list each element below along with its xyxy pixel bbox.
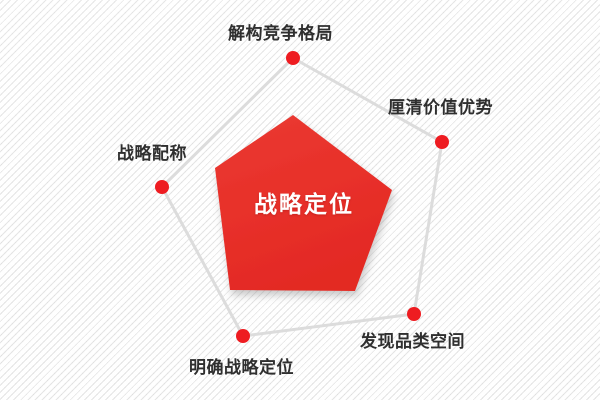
center-label: 战略定位 (254, 194, 354, 217)
vertex-dot-bottom-left[interactable] (236, 329, 250, 343)
axis-label-left: 战略配称 (117, 146, 187, 163)
vertex-dot-right[interactable] (435, 135, 449, 149)
vertex-dot-left[interactable] (155, 180, 169, 194)
axis-label-top: 解构竞争格局 (228, 26, 333, 43)
axis-label-bottom-left: 明确战略定位 (189, 360, 294, 377)
strategic-positioning-diagram: 解构竞争格局 厘清价值优势 发现品类空间 明确战略定位 战略配称 战略定位 (0, 0, 600, 400)
axis-label-bottom-right: 发现品类空间 (360, 334, 465, 351)
vertex-dot-top[interactable] (286, 51, 300, 65)
axis-label-right: 厘清价值优势 (388, 100, 493, 117)
vertex-dot-bottom-right[interactable] (407, 307, 421, 321)
